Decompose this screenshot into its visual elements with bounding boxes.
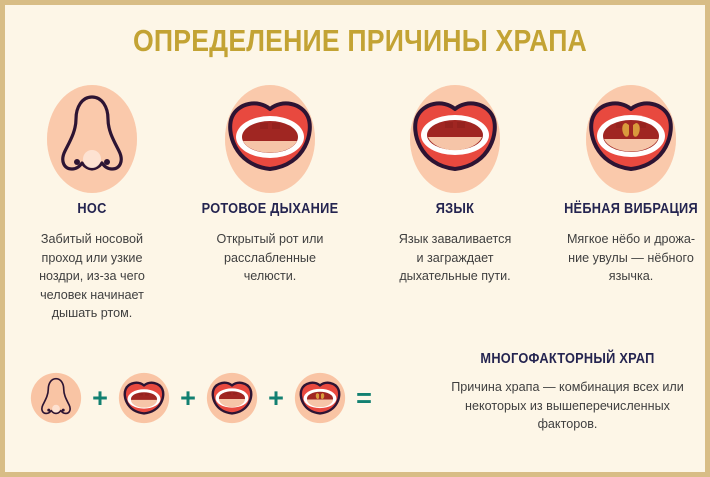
cause-text-mouth-breathing: Открытый рот или расслабленные челюсти.	[181, 230, 359, 286]
cause-column-palatal-vibration: НЁБНАЯ ВИБРАЦИЯ Мягкое нёбо и дрожа- ние…	[542, 83, 710, 286]
plus-icon: +	[261, 385, 291, 412]
nose-icon	[3, 83, 181, 195]
summary-text: Причина храпа — комбинация всех или неко…	[425, 378, 710, 434]
page-title: ОПРЕДЕЛЕНИЕ ПРИЧИНЫ ХРАПА	[55, 23, 666, 59]
cause-label-palatal-vibration: НЁБНАЯ ВИБРАЦИЯ	[553, 201, 710, 217]
cause-label-tongue: ЯЗЫК	[377, 201, 534, 217]
plus-icon: +	[173, 385, 203, 412]
cause-label-mouth-breathing: РОТОВОЕ ДЫХАНИЕ	[192, 201, 349, 217]
cause-column-tongue: ЯЗЫК Язык заваливается и заграждает дыха…	[366, 83, 544, 286]
open-mouth-icon	[115, 369, 173, 427]
summary-block: МНОГОФАКТОРНЫЙ ХРАП Причина храпа — комб…	[425, 351, 710, 434]
summary-title: МНОГОФАКТОРНЫЙ ХРАП	[442, 351, 693, 367]
plus-icon: +	[85, 385, 115, 412]
nose-icon	[27, 369, 85, 427]
cause-label-nose: НОС	[14, 201, 171, 217]
open-mouth-icon	[181, 83, 359, 195]
uvula-mouth-icon	[542, 83, 710, 195]
infographic-page: ОПРЕДЕЛЕНИЕ ПРИЧИНЫ ХРАПА НОС Забитый но…	[0, 0, 710, 477]
tongue-mouth-icon	[366, 83, 544, 195]
tongue-mouth-icon	[203, 369, 261, 427]
multifactor-equation: + + +	[27, 369, 379, 427]
cause-column-mouth-breathing: РОТОВОЕ ДЫХАНИЕ Открытый рот или расслаб…	[181, 83, 359, 286]
cause-text-tongue: Язык заваливается и заграждает дыхательн…	[366, 230, 544, 286]
cause-column-nose: НОС Забитый носовой проход или узкие ноз…	[3, 83, 181, 323]
uvula-mouth-icon	[291, 369, 349, 427]
cause-text-nose: Забитый носовой проход или узкие ноздри,…	[3, 230, 181, 323]
cause-text-palatal-vibration: Мягкое нёбо и дрожа- ние увулы — нёбного…	[542, 230, 710, 286]
equals-icon: =	[349, 385, 379, 412]
